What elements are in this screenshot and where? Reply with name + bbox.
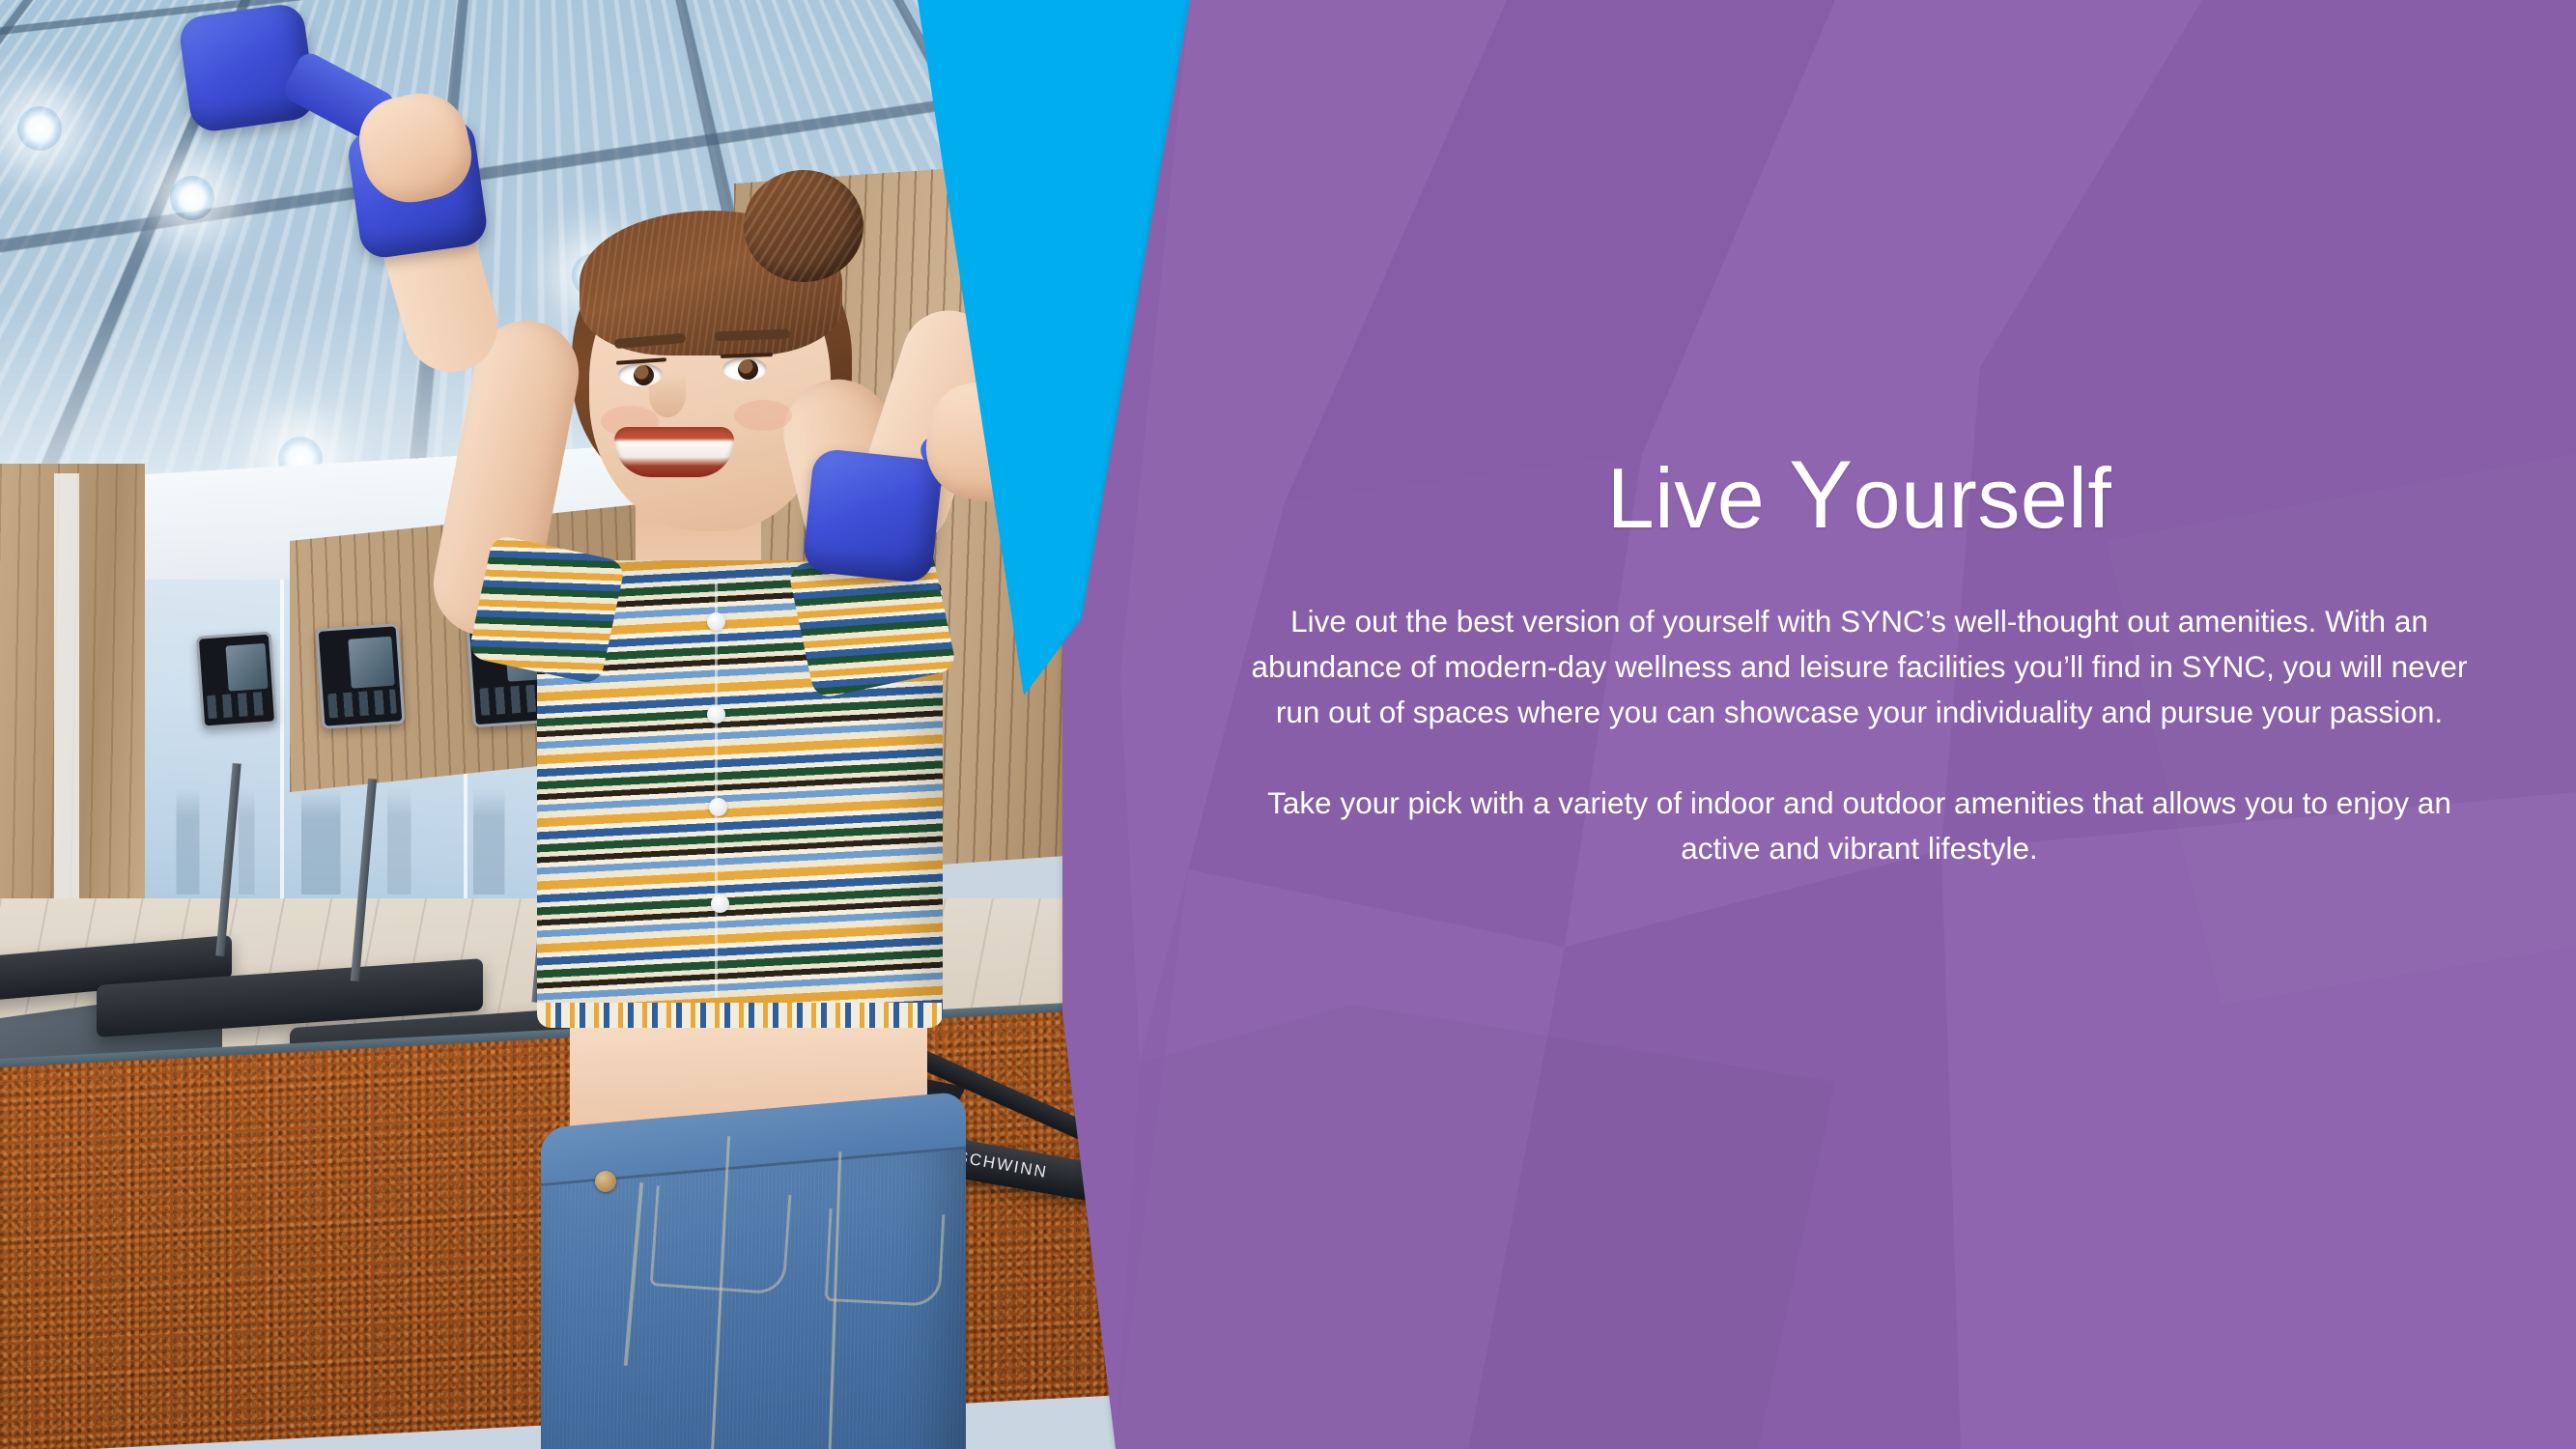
hero-copy: Live Yourself Live out the best version … xyxy=(1246,454,2473,870)
headline-part-1: Live xyxy=(1607,450,1789,546)
headline-cap: Y xyxy=(1789,440,1854,548)
hero-paragraph-1: Live out the best version of yourself wi… xyxy=(1246,599,2473,734)
headline-part-2: ourself xyxy=(1854,450,2112,546)
hero-paragraph-2: Take your pick with a variety of indoor … xyxy=(1246,781,2473,870)
page-title: Live Yourself xyxy=(1246,454,2473,543)
hero-banner: SCHWINN xyxy=(0,0,2576,1449)
